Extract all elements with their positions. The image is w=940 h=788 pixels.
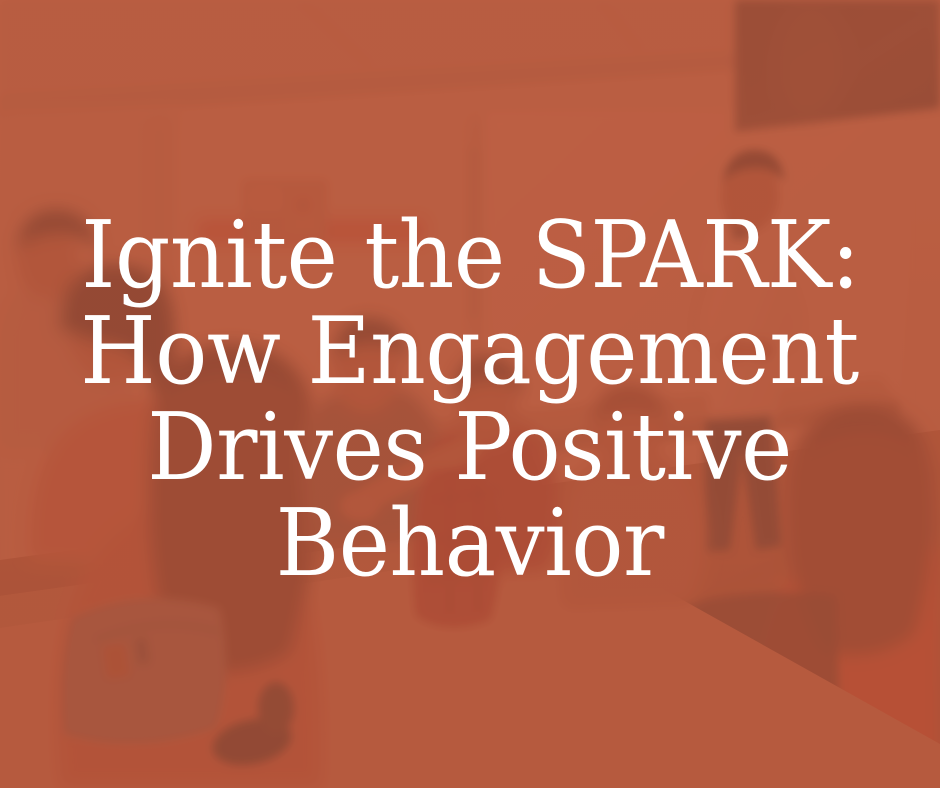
title-line-3: Drives Positive [148,399,793,495]
title-line-4: Behavior [276,495,664,591]
hero-title: Ignite the SPARK: How Engagement Drives … [0,0,940,788]
featured-image-canvas: Ignite the SPARK: How Engagement Drives … [0,0,940,788]
title-line-1: Ignite the SPARK: [81,207,859,303]
title-line-2: How Engagement [81,303,859,399]
